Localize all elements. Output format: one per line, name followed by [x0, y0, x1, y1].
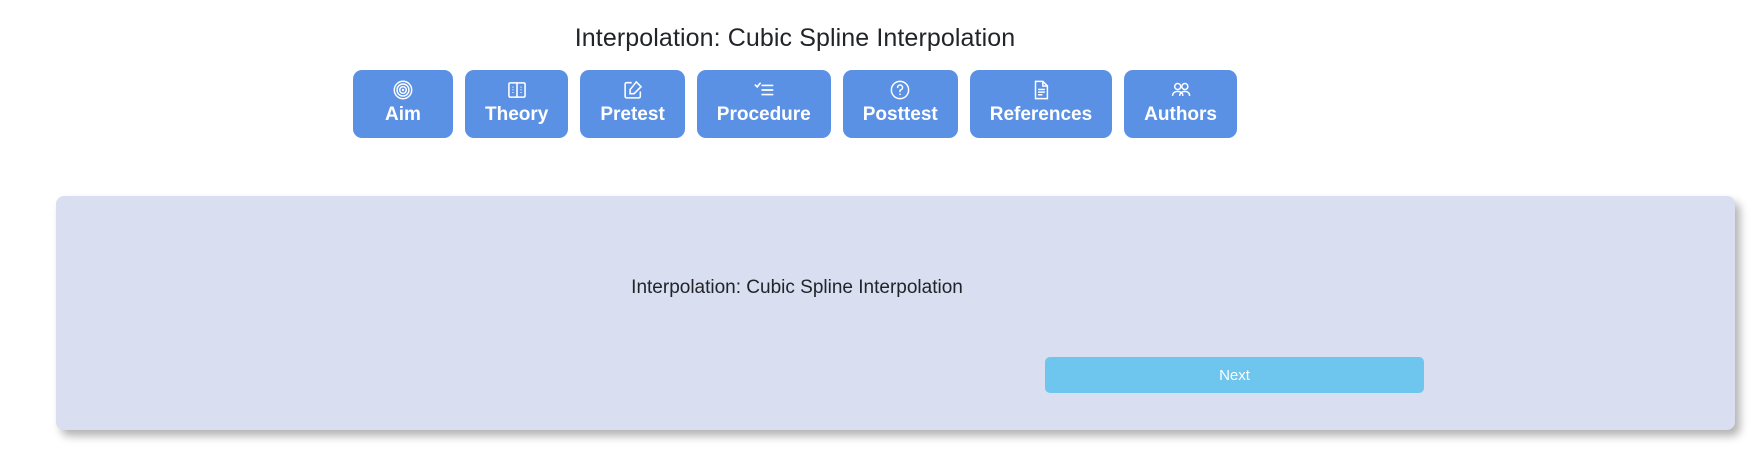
nav-button-pretest[interactable]: Pretest — [580, 70, 684, 138]
question-circle-icon — [889, 79, 911, 101]
nav-button-label: Aim — [385, 104, 421, 126]
nav-button-authors[interactable]: Authors — [1124, 70, 1237, 138]
page-title: Interpolation: Cubic Spline Interpolatio… — [0, 24, 1590, 53]
nav-button-label: Procedure — [717, 104, 811, 126]
nav-button-label: References — [990, 104, 1092, 126]
nav-button-aim[interactable]: Aim — [353, 70, 453, 138]
document-text-icon — [1030, 79, 1052, 101]
nav-button-procedure[interactable]: Procedure — [697, 70, 831, 138]
nav-button-label: Posttest — [863, 104, 938, 126]
pencil-square-icon — [622, 79, 644, 101]
panel-heading: Interpolation: Cubic Spline Interpolatio… — [56, 277, 1538, 299]
nav-button-references[interactable]: References — [970, 70, 1112, 138]
nav-button-label: Authors — [1144, 104, 1217, 126]
nav-button-theory[interactable]: Theory — [465, 70, 568, 138]
open-book-icon — [506, 79, 528, 101]
nav-button-label: Pretest — [600, 104, 664, 126]
simulation-page: Interpolation: Cubic Spline Interpolatio… — [0, 0, 1760, 462]
content-panel: Interpolation: Cubic Spline Interpolatio… — [56, 196, 1735, 430]
checklist-icon — [753, 79, 775, 101]
next-button[interactable]: Next — [1045, 357, 1424, 393]
nav-button-posttest[interactable]: Posttest — [843, 70, 958, 138]
nav-button-label: Theory — [485, 104, 548, 126]
target-icon — [392, 79, 414, 101]
users-icon — [1170, 79, 1192, 101]
section-nav-bar: Aim Theory — [0, 70, 1590, 138]
